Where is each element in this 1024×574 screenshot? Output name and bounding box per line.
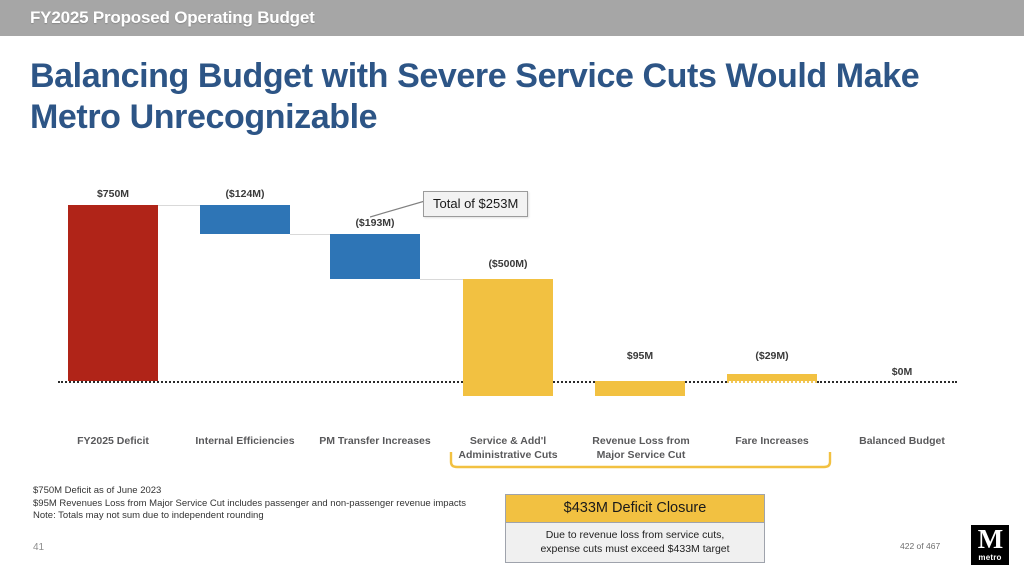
bar-internal-efficiencies[interactable] <box>200 205 290 234</box>
baseline-segment-fare <box>727 381 817 383</box>
deficit-closure-card: $433M Deficit Closure Due to revenue los… <box>505 494 765 563</box>
bar-pm-transfer-increases[interactable] <box>330 234 420 279</box>
baseline-segment-right <box>817 381 957 383</box>
metro-logo-letter: M <box>978 526 1002 553</box>
category-line: Fare Increases <box>717 434 827 448</box>
category-label-fare-increases: Fare Increases <box>717 434 827 448</box>
deficit-closure-body-line-1: Due to revenue loss from service cuts, <box>512 528 758 542</box>
connector-2 <box>290 234 330 235</box>
connector-1 <box>158 205 200 206</box>
footnote-line-2: $95M Revenues Loss from Major Service Cu… <box>33 498 466 511</box>
deficit-closure-brace <box>448 452 833 470</box>
category-line: FY2025 Deficit <box>63 434 163 448</box>
slide: FY2025 Proposed Operating Budget Balanci… <box>0 0 1024 574</box>
footnote-line-3: Note: Totals may not sum due to independ… <box>33 510 466 523</box>
bar-label-balanced-budget: $0M <box>857 366 947 378</box>
bar-label-revenue-loss: $95M <box>595 350 685 362</box>
bar-label-internal-efficiencies: ($124M) <box>200 188 290 200</box>
category-line: Internal Efficiencies <box>185 434 305 448</box>
connector-3 <box>420 279 463 280</box>
bar-service-administrative-cuts[interactable] <box>463 279 553 396</box>
bar-label-fare-increases: ($29M) <box>727 350 817 362</box>
category-label-balanced-budget: Balanced Budget <box>847 434 957 448</box>
page-counter: 422 of 467 <box>900 541 940 551</box>
bar-label-service-administrative-cuts: ($500M) <box>463 258 553 270</box>
baseline-segment-mid-2 <box>685 381 727 383</box>
baseline-segment-mid-1 <box>553 381 595 383</box>
category-line: Service & Add'l <box>448 434 568 448</box>
deficit-closure-heading: $433M Deficit Closure <box>505 494 765 523</box>
total-callout-box[interactable]: Total of $253M <box>423 191 528 217</box>
category-line: PM Transfer Increases <box>312 434 438 448</box>
metro-logo-wordmark: metro <box>978 553 1001 562</box>
category-line: Balanced Budget <box>847 434 957 448</box>
metro-logo: M metro <box>971 525 1009 565</box>
deficit-closure-body-line-2: expense cuts must exceed $433M target <box>512 542 758 556</box>
category-label-fy2025-deficit: FY2025 Deficit <box>63 434 163 448</box>
bar-revenue-loss-major-service-cut[interactable] <box>595 381 685 396</box>
bar-label-pm-transfer-increases: ($193M) <box>330 217 420 229</box>
category-label-internal-efficiencies: Internal Efficiencies <box>185 434 305 448</box>
bar-fare-increases[interactable] <box>727 374 817 381</box>
bar-label-fy2025-deficit: $750M <box>68 188 158 200</box>
baseline-segment-left <box>58 381 463 383</box>
slide-number: 41 <box>33 542 44 553</box>
category-line: Revenue Loss from <box>578 434 704 448</box>
footnote-line-1: $750M Deficit as of June 2023 <box>33 485 466 498</box>
footnotes: $750M Deficit as of June 2023 $95M Reven… <box>33 485 466 523</box>
deficit-closure-body: Due to revenue loss from service cuts, e… <box>505 523 765 563</box>
bar-fy2025-deficit[interactable] <box>68 205 158 381</box>
callout-leader-line <box>370 200 425 218</box>
category-label-pm-transfer-increases: PM Transfer Increases <box>312 434 438 448</box>
